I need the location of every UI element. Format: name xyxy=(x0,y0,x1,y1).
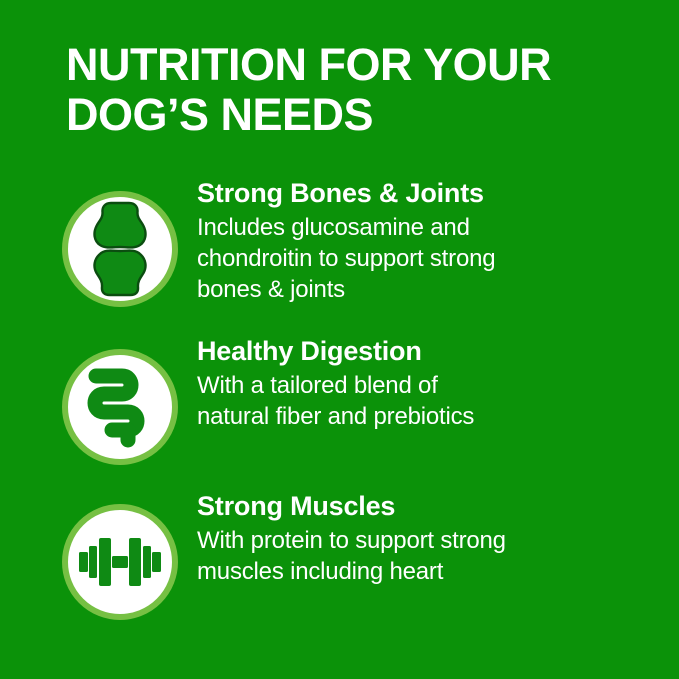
benefit-item-muscles: Strong Muscles With protein to support s… xyxy=(0,490,679,640)
benefit-text-muscles: Strong Muscles With protein to support s… xyxy=(197,490,617,587)
benefit-description: With a tailored blend of natural fiber a… xyxy=(197,370,617,432)
intestine-icon-badge xyxy=(62,349,178,465)
dumbbell-icon xyxy=(77,534,163,590)
benefit-description: With protein to support strong muscles i… xyxy=(197,525,617,587)
nutrition-infographic: NUTRITION FOR YOUR DOG’S NEEDS Strong Bo… xyxy=(0,0,679,679)
benefit-title: Strong Bones & Joints xyxy=(197,177,617,210)
bone-joint-icon xyxy=(84,199,156,299)
benefit-title: Strong Muscles xyxy=(197,490,617,523)
benefit-description: Includes glucosamine and chondroitin to … xyxy=(197,212,617,305)
dumbbell-icon-badge xyxy=(62,504,178,620)
benefit-item-bones-joints: Strong Bones & Joints Includes glucosami… xyxy=(0,177,679,327)
intestine-icon xyxy=(82,364,158,450)
benefit-item-digestion: Healthy Digestion With a tailored blend … xyxy=(0,335,679,485)
benefit-text-digestion: Healthy Digestion With a tailored blend … xyxy=(197,335,617,432)
benefit-title: Healthy Digestion xyxy=(197,335,617,368)
bone-joint-icon-badge xyxy=(62,191,178,307)
page-title: NUTRITION FOR YOUR DOG’S NEEDS xyxy=(66,40,626,140)
benefit-text-bones-joints: Strong Bones & Joints Includes glucosami… xyxy=(197,177,617,305)
